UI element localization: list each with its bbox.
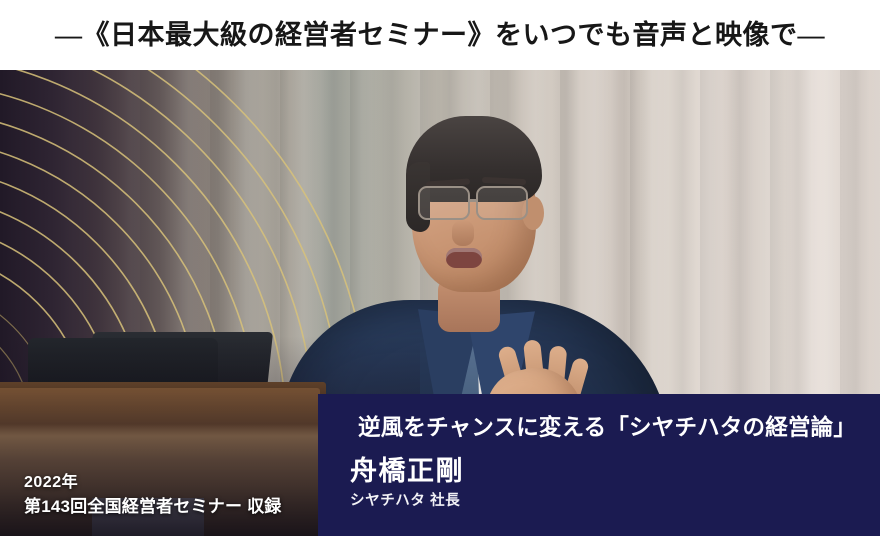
caption-panel: 逆風をチャンスに変える「シヤチハタの経営論」 舟橋正剛 シヤチハタ 社長	[318, 394, 880, 536]
glasses-lens-right	[476, 186, 528, 220]
nose	[452, 220, 474, 246]
recording-event: 第143回全国経営者セミナー 収録	[24, 495, 282, 520]
video-thumbnail-frame: —《日本最大級の経営者セミナー》をいつでも音声と映像で—	[0, 0, 880, 536]
header-band: —《日本最大級の経営者セミナー》をいつでも音声と映像で—	[0, 0, 880, 70]
glasses-lens-left	[418, 186, 470, 220]
recording-year: 2022年	[24, 471, 282, 495]
lecture-title: 逆風をチャンスに変える「シヤチハタの経営論」	[358, 416, 880, 441]
speaker-role: シヤチハタ 社長	[350, 493, 880, 510]
glasses-icon	[410, 186, 542, 226]
page-title: —《日本最大級の経営者セミナー》をいつでも音声と映像で—	[55, 22, 825, 49]
glasses-bridge	[470, 199, 478, 202]
speaker-name: 舟橋正剛	[350, 457, 880, 487]
recording-stamp: 2022年 第143回全国経営者セミナー 収録	[24, 471, 282, 520]
mouth	[446, 248, 482, 268]
